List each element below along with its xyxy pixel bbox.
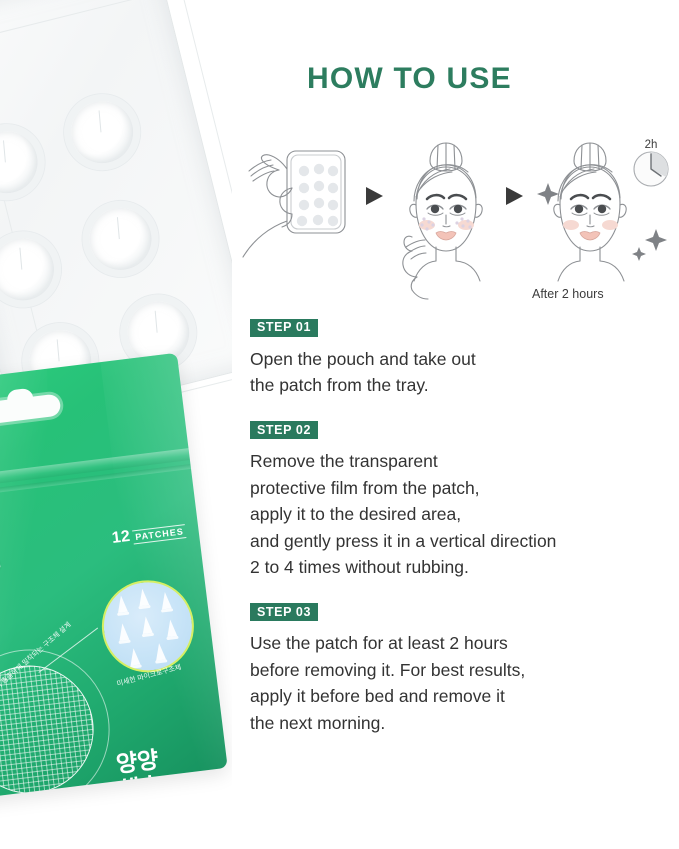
clock-2h-icon: [634, 152, 668, 186]
page-title: HOW TO USE: [307, 62, 512, 96]
step-line: the patch from the tray.: [250, 372, 670, 399]
illustration-caption: After 2 hours: [532, 287, 604, 301]
page-root: QUICK CALMING oot tch 12PATCHES 피부 속까지 촘…: [0, 0, 679, 849]
step-line: Remove the transparent: [250, 448, 670, 475]
instructions-panel: HOW TO USE: [232, 0, 679, 849]
arrow-1-icon: [366, 187, 383, 205]
illustration-row: 2h After 2 hours: [240, 135, 679, 305]
face-applying-patch-icon: [403, 143, 482, 299]
step-line: protective film from the patch,: [250, 475, 670, 502]
step-text-2: Remove the transparent protective film f…: [250, 448, 670, 581]
pouch-count-number: 12: [111, 528, 131, 547]
step-item-3: STEP 03 Use the patch for at least 2 hou…: [250, 603, 670, 737]
step-line: apply it to the desired area,: [250, 501, 670, 528]
how-to-use-illustration: 2h: [240, 135, 679, 305]
clock-label: 2h: [645, 139, 658, 151]
step-badge-3: STEP 03: [250, 603, 318, 621]
arrow-2-icon: [506, 187, 523, 205]
step-line: and gently press it in a vertical direct…: [250, 528, 670, 555]
steps-list: STEP 01 Open the pouch and take out the …: [250, 318, 670, 758]
product-photo: QUICK CALMING oot tch 12PATCHES 피부 속까지 촘…: [0, 0, 232, 849]
step-badge-1: STEP 01: [250, 319, 318, 337]
pouch-hashtags: #데일리 스팟 시카 진정 #빠른 흡수력 #피부 보호: [49, 802, 227, 804]
step-item-2: STEP 02 Remove the transparent protectiv…: [250, 421, 670, 581]
step-line: before removing it. For best results,: [250, 657, 670, 684]
pouch-front: QUICK CALMING oot tch 12PATCHES 피부 속까지 촘…: [0, 353, 228, 804]
pouch-highlight-right: [100, 353, 227, 777]
step-text-3: Use the patch for at least 2 hours befor…: [250, 630, 670, 736]
step-badge-2: STEP 02: [250, 421, 318, 439]
face-clear-skin-icon: [554, 143, 626, 281]
step-line: Use the patch for at least 2 hours: [250, 630, 670, 657]
patch-tray-in-hand-icon: [243, 151, 345, 257]
product-pouch: QUICK CALMING oot tch 12PATCHES 피부 속까지 촘…: [0, 350, 232, 815]
step-line: Open the pouch and take out: [250, 346, 670, 373]
step-item-1: STEP 01 Open the pouch and take out the …: [250, 318, 670, 399]
step-line: 2 to 4 times without rubbing.: [250, 554, 670, 581]
step-line: the next morning.: [250, 710, 670, 737]
step-text-1: Open the pouch and take out the patch fr…: [250, 346, 670, 399]
step-line: apply it before bed and remove it: [250, 683, 670, 710]
